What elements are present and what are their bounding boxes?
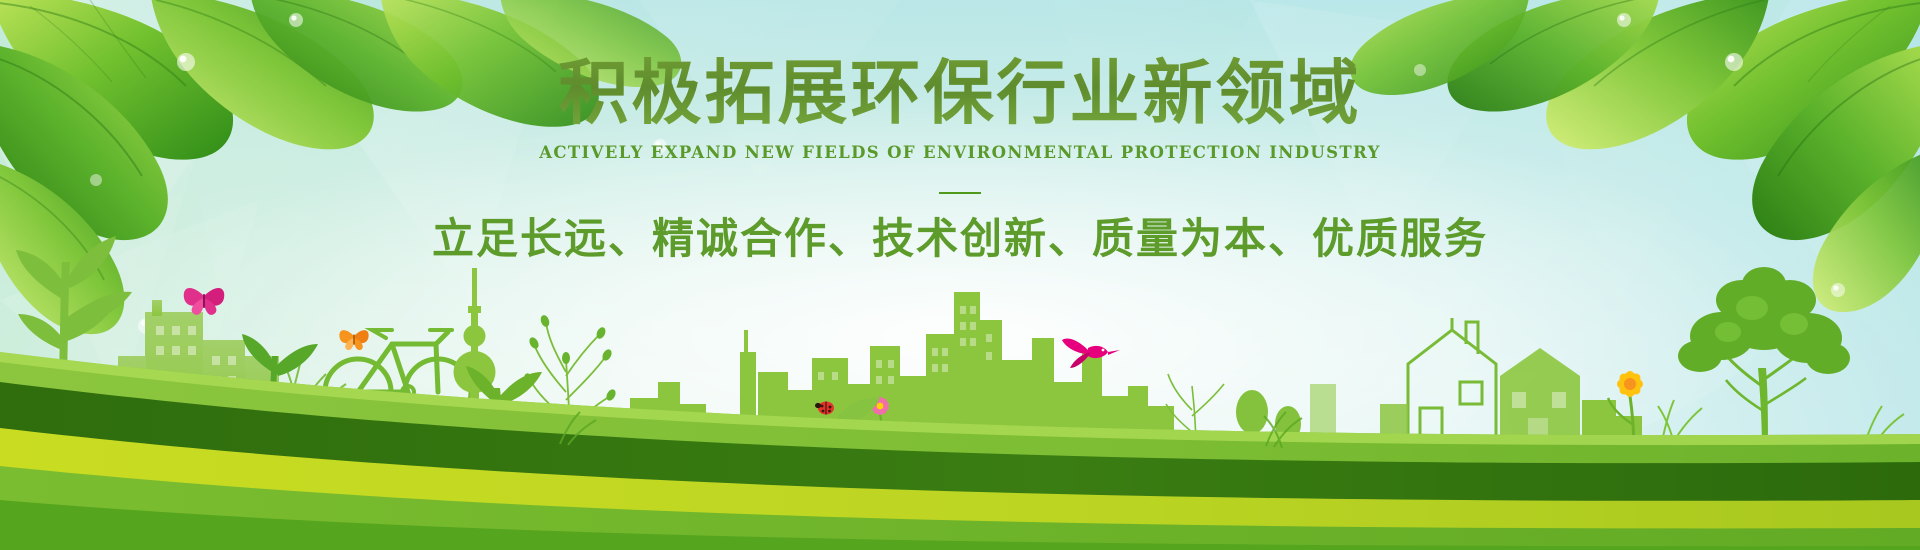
company-tagline: 立足长远、精诚合作、技术创新、质量为本、优质服务 <box>0 215 1920 263</box>
environmental-banner: 积极拓展环保行业新领域 ACTIVELY EXPAND NEW FIELDS O… <box>0 0 1920 550</box>
english-subtitle: ACTIVELY EXPAND NEW FIELDS OF ENVIRONMEN… <box>0 143 1920 162</box>
house-right <box>1408 318 1496 452</box>
page-title: 积极拓展环保行业新领域 <box>0 56 1920 130</box>
title-divider <box>939 192 981 194</box>
butterfly-pink <box>184 288 225 315</box>
butterfly-orange <box>339 330 368 350</box>
